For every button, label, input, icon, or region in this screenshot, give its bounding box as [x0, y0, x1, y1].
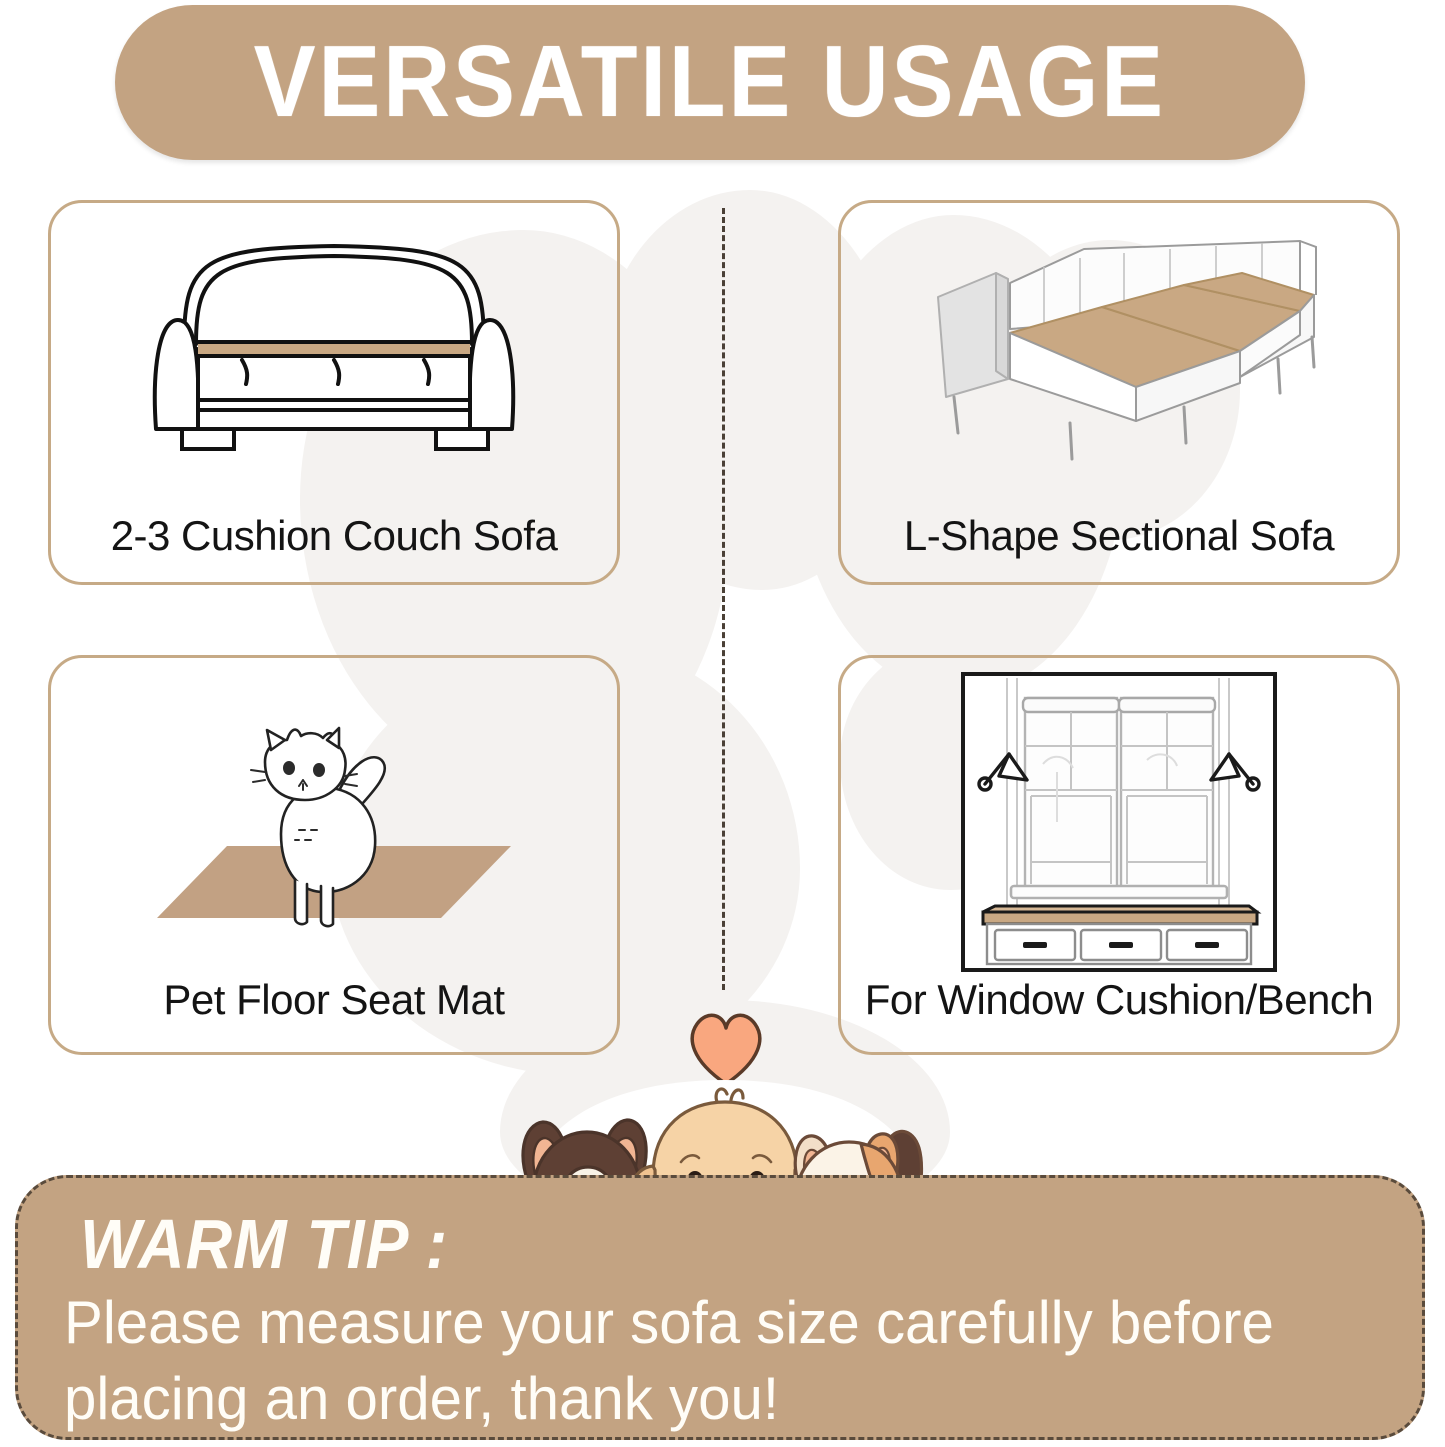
warm-tip-banner: WARM TIP : Please measure your sofa size… — [15, 1175, 1425, 1440]
usage-card-couch-sofa: 2-3 Cushion Couch Sofa — [48, 200, 620, 585]
card-caption: L-Shape Sectional Sofa — [841, 512, 1397, 560]
warm-tip-line-1: Please measure your sofa size carefully … — [64, 1288, 1274, 1357]
header-banner: VERSATILE USAGE — [115, 5, 1305, 160]
infographic-page: VERSATILE USAGE — [0, 0, 1445, 1447]
card-caption: Pet Floor Seat Mat — [51, 976, 617, 1024]
page-title: VERSATILE USAGE — [254, 25, 1166, 140]
usage-card-window-bench: For Window Cushion/Bench — [838, 655, 1400, 1055]
couch-sofa-illustration — [51, 211, 617, 466]
seat-cover-tan — [198, 342, 470, 356]
usage-card-l-shape-sectional: L-Shape Sectional Sofa — [838, 200, 1400, 585]
card-caption: 2-3 Cushion Couch Sofa — [51, 512, 617, 560]
warm-tip-line-2: placing an order, thank you! — [64, 1364, 779, 1433]
cat-on-mat-illustration — [51, 688, 617, 978]
heart-icon — [683, 1008, 769, 1088]
warm-tip-label: WARM TIP : — [80, 1204, 448, 1284]
card-caption: For Window Cushion/Bench — [841, 976, 1397, 1024]
vertical-dashed-divider — [722, 208, 725, 990]
l-shape-sectional-illustration — [841, 211, 1397, 466]
window-bench-illustration — [841, 672, 1397, 972]
bench-cushion-tan — [983, 912, 1257, 924]
usage-card-pet-floor-mat: Pet Floor Seat Mat — [48, 655, 620, 1055]
